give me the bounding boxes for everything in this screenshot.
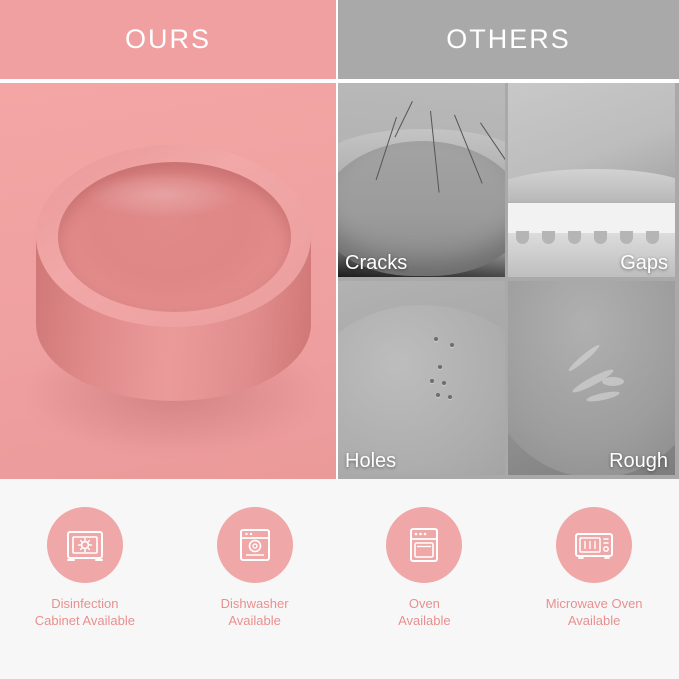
others-header: OTHERS <box>338 0 679 79</box>
ours-header: OURS <box>0 0 336 79</box>
ours-header-label: OURS <box>125 24 211 55</box>
pinhole <box>436 393 440 397</box>
feature-disinfection-cabinet: Disinfection Cabinet Available <box>5 507 165 629</box>
defect-caption: Rough <box>609 450 668 473</box>
feature-label: Oven Available <box>398 595 451 629</box>
ours-header-divider <box>0 79 336 83</box>
dishwasher-icon <box>234 524 276 566</box>
surface-scuff <box>602 377 624 386</box>
disinfection-cabinet-icon <box>64 524 106 566</box>
defect-caption: Holes <box>345 450 396 473</box>
gap-notch <box>594 231 607 244</box>
gap-notch <box>568 231 581 244</box>
gap-notch <box>620 231 633 244</box>
feature-icon-badge <box>217 507 293 583</box>
gap-notch <box>542 231 555 244</box>
product-highlight <box>88 173 238 217</box>
defect-cell-cracks: Cracks <box>338 83 505 277</box>
product-comparison-infographic: OURS OTHERS <box>0 0 679 679</box>
feature-icon-badge <box>386 507 462 583</box>
defect-caption: Gaps <box>620 252 668 275</box>
pinhole <box>434 337 438 341</box>
defect-cell-gaps: Gaps <box>508 83 675 277</box>
ours-column: OURS <box>0 0 336 479</box>
comparison-section: OURS OTHERS <box>0 0 679 479</box>
defect-cell-holes: Holes <box>338 281 505 475</box>
pinhole <box>438 365 442 369</box>
gap-notch <box>646 231 659 244</box>
defect-cell-rough: Rough <box>508 281 675 475</box>
defect-grid: Cracks Gaps <box>338 83 679 479</box>
pinhole <box>430 379 434 383</box>
ours-product-photo <box>0 83 336 479</box>
feature-icon-badge <box>47 507 123 583</box>
feature-oven: Oven Available <box>344 507 504 629</box>
pinhole <box>442 381 446 385</box>
microwave-oven-icon <box>572 523 616 567</box>
feature-label: Microwave Oven Available <box>546 595 643 629</box>
oven-icon <box>403 524 445 566</box>
feature-icon-badge <box>556 507 632 583</box>
gap-notch <box>516 231 529 244</box>
others-header-label: OTHERS <box>446 24 571 55</box>
pinhole <box>450 343 454 347</box>
feature-dishwasher: Dishwasher Available <box>175 507 335 629</box>
pinhole <box>448 395 452 399</box>
feature-label: Dishwasher Available <box>221 595 289 629</box>
defect-caption: Cracks <box>345 252 407 275</box>
features-strip: Disinfection Cabinet Available Dishwashe… <box>0 479 679 679</box>
feature-label: Disinfection Cabinet Available <box>35 595 135 629</box>
feature-microwave-oven: Microwave Oven Available <box>514 507 674 629</box>
